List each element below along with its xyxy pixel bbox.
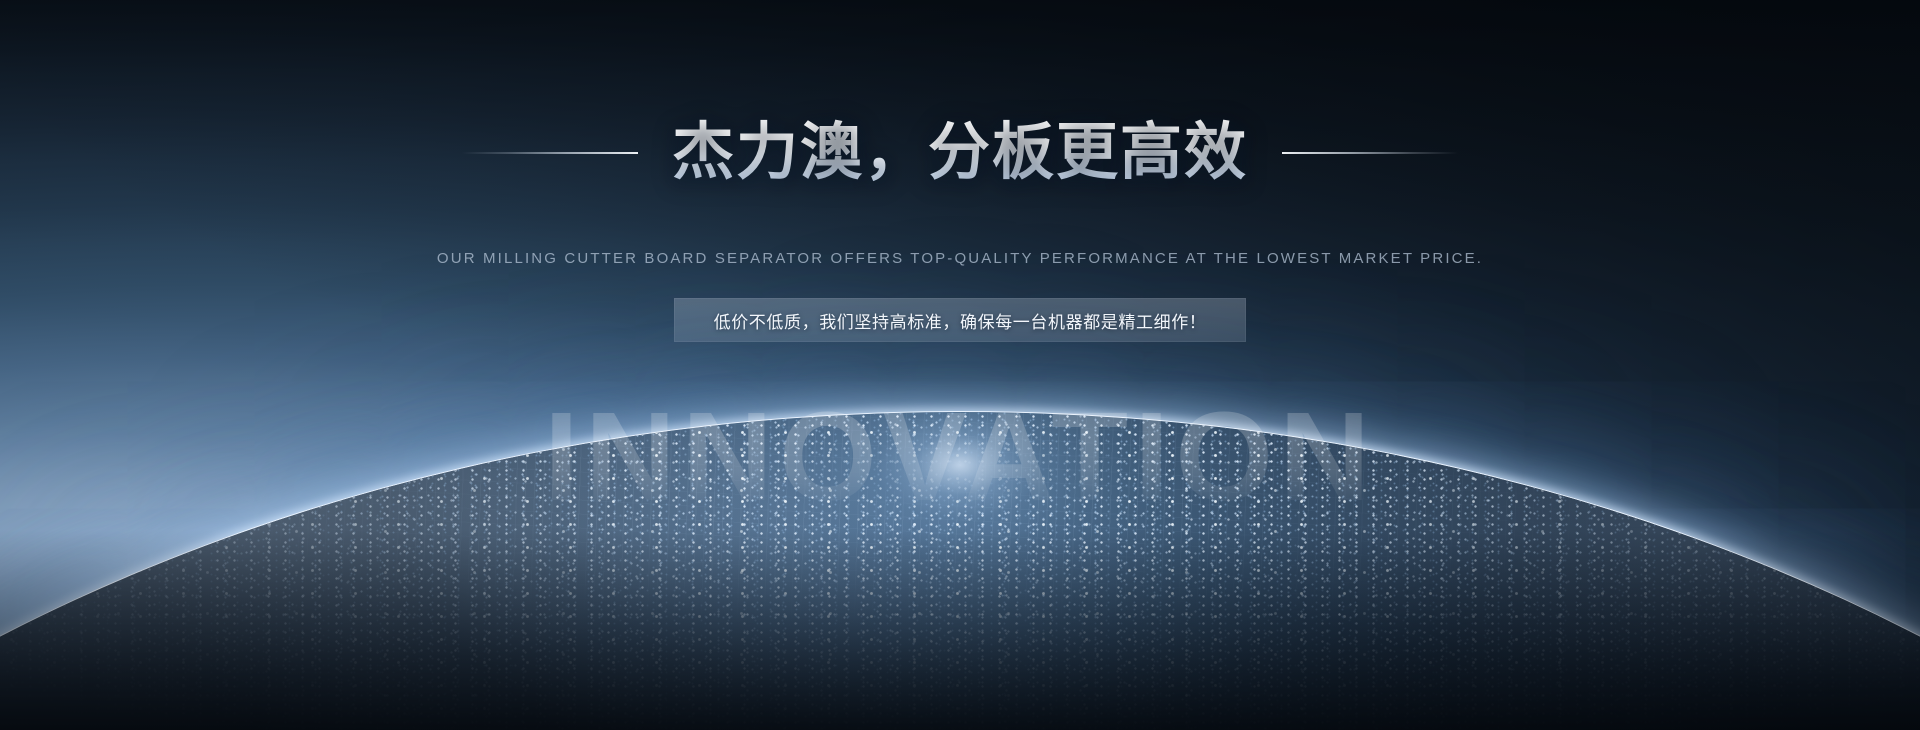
page-title: 杰力澳，分板更高效 [672, 118, 1248, 187]
hero-banner: INNOVATION 杰力澳，分板更高效 OUR MILLING CUTTER … [0, 0, 1920, 730]
headline-row: 杰力澳，分板更高效 [0, 118, 1920, 187]
hero-subtitle: OUR MILLING CUTTER BOARD SEPARATOR OFFER… [0, 250, 1920, 267]
tagline-text: 低价不低质，我们坚持高标准，确保每一台机器都是精工细作！ [714, 308, 1207, 333]
decorative-rule-left-icon [462, 152, 638, 154]
hero-content: 杰力澳，分板更高效 OUR MILLING CUTTER BOARD SEPAR… [0, 0, 1920, 730]
decorative-rule-right-icon [1282, 152, 1458, 154]
tagline-banner: 低价不低质，我们坚持高标准，确保每一台机器都是精工细作！ [674, 298, 1246, 342]
